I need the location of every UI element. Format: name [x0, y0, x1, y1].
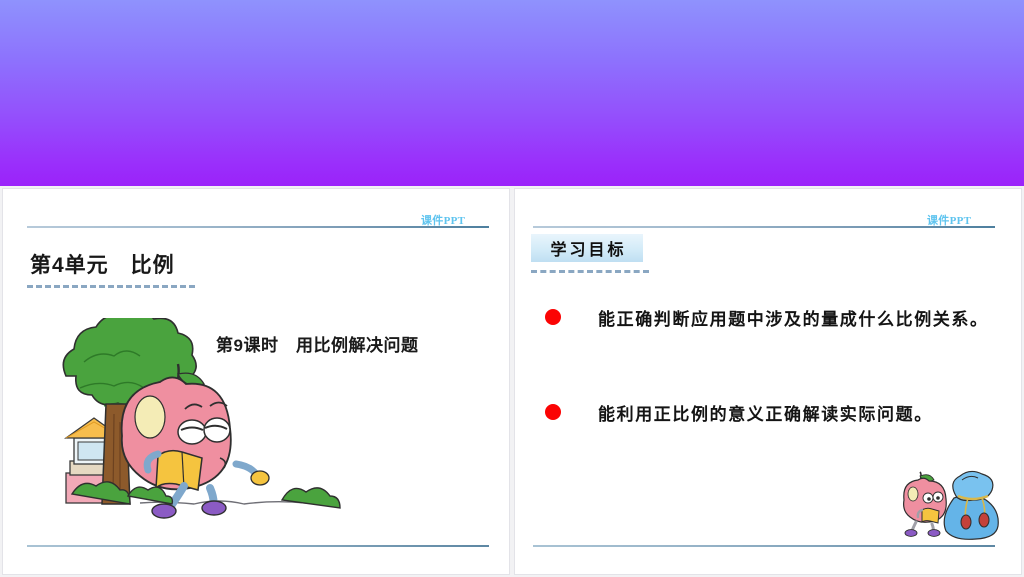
right-watermark-text: 课件PPT	[927, 212, 971, 228]
left-watermark-text: 课件PPT	[421, 212, 465, 228]
apple-character-illustration	[44, 318, 344, 533]
objective-item-2: 能利用正比例的意义正确解读实际问题。	[545, 400, 990, 430]
bush-mid-icon	[128, 487, 172, 504]
learning-objectives-chip: 学习目标	[531, 234, 643, 262]
apple-and-gift-sack-illustration	[898, 468, 1004, 540]
purple-gradient-banner	[0, 0, 1024, 186]
bullet-dot-icon	[545, 404, 561, 420]
objective-item-1: 能正确判断应用题中涉及的量成什么比例关系。	[545, 305, 990, 335]
presentation-page: 课件PPT 第4单元 比例 第9课时 用比例解决问题	[0, 0, 1024, 577]
unit-title-dashed-rule	[27, 285, 195, 288]
left-header-rule	[27, 226, 489, 228]
learning-objectives-dashed-rule	[531, 270, 649, 273]
unit-title: 第4单元 比例	[30, 249, 175, 279]
small-apple-character	[904, 472, 947, 536]
left-footer-rule	[27, 545, 489, 547]
learning-objectives-label: 学习目标	[547, 236, 626, 260]
objective-text-1: 能正确判断应用题中涉及的量成什么比例关系。	[598, 305, 990, 335]
right-header-rule	[533, 226, 995, 228]
bush-right-icon	[282, 488, 340, 508]
objective-text-2: 能利用正比例的意义正确解读实际问题。	[598, 400, 990, 430]
bullet-dot-icon	[545, 309, 561, 325]
blue-gift-sack-icon	[944, 471, 998, 539]
right-footer-rule	[533, 545, 995, 547]
